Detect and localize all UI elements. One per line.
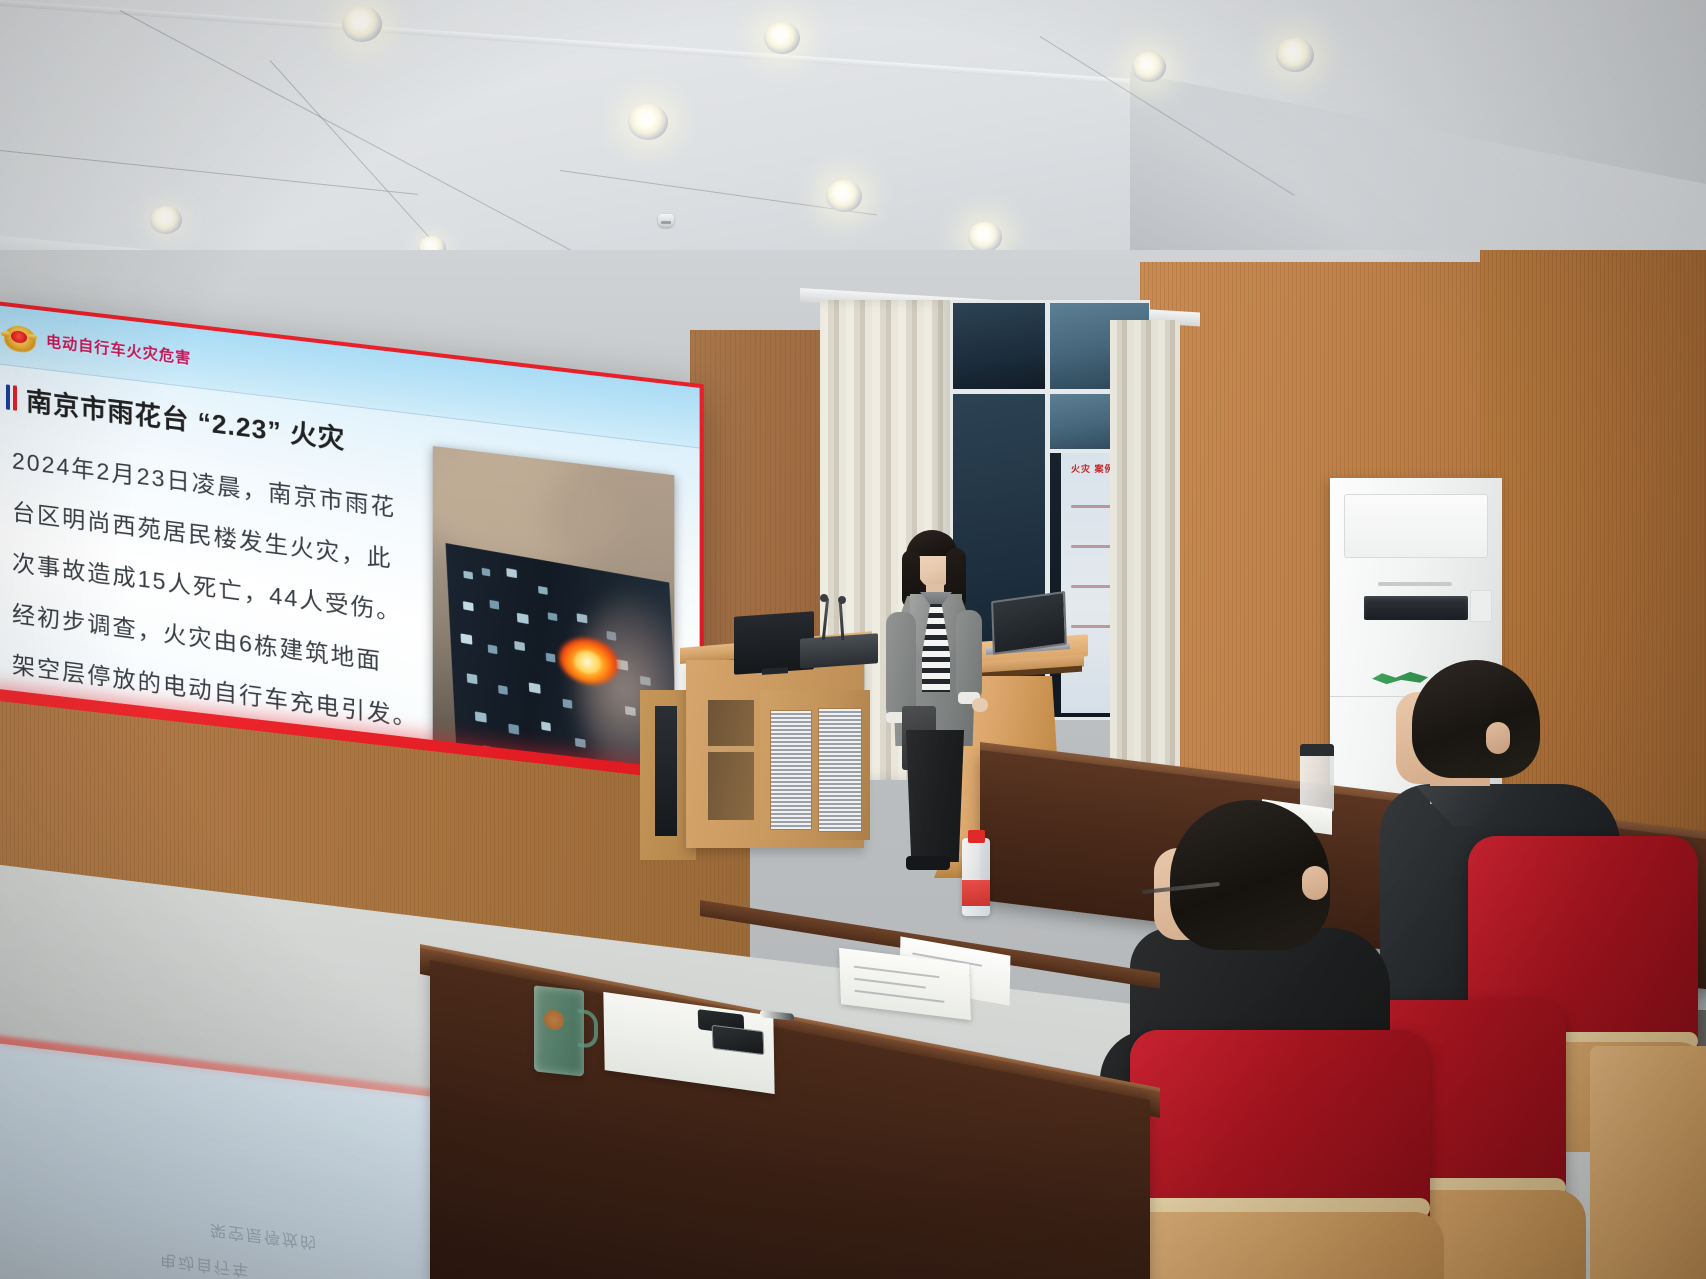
ceiling-downlight: [968, 222, 1002, 252]
green-glass-cup[interactable]: [534, 985, 584, 1076]
ac-control-badge[interactable]: [1470, 590, 1492, 622]
ceiling-downlight: [764, 22, 800, 54]
audio-mixer[interactable]: [800, 633, 878, 668]
auditorium-seat[interactable]: [1130, 1030, 1450, 1279]
slide-header-title: 电动自行车火灾危害: [46, 330, 191, 368]
cabinet-open-shelf: [708, 700, 754, 820]
bottle-label: [962, 880, 990, 906]
jar-lid: [1300, 744, 1334, 756]
cabinet-louver-door[interactable]: [770, 710, 812, 830]
ac-brand-strip: [1378, 582, 1452, 586]
attendee-ear: [1302, 866, 1328, 900]
av-cabinet-right[interactable]: [760, 690, 870, 840]
cabinet-louver-door[interactable]: [818, 708, 862, 832]
ac-air-vent: [1364, 596, 1468, 620]
microphone-head: [838, 596, 846, 604]
bottle-cap: [968, 830, 985, 843]
ceiling-downlight: [826, 180, 862, 212]
microphone-head: [820, 594, 828, 602]
av-cabinet-left-louver: [655, 706, 677, 836]
laptop-screen[interactable]: [991, 591, 1067, 655]
presenter-arm: [886, 612, 916, 720]
cabinet-shelf-board: [708, 746, 754, 752]
ac-top-panel: [1344, 494, 1488, 558]
auditorium-seat[interactable]: [1590, 1046, 1706, 1279]
conference-room-photo: 火灾 案例 电动自行车火灾危害: [0, 0, 1706, 1279]
ceiling-downlight: [1132, 52, 1166, 82]
attendee-hair: [1412, 660, 1540, 778]
presenter-shoe: [906, 856, 950, 870]
ceiling-downlight: [1276, 38, 1314, 72]
presenter-trousers: [902, 730, 968, 862]
ceiling-downlight: [150, 206, 182, 234]
window-curtain-right: [1110, 320, 1180, 790]
fire-service-emblem-icon: [2, 320, 36, 354]
fire-photo: [433, 446, 675, 783]
reflected-screen-title: 火灾 案例: [1071, 462, 1115, 475]
presenter-hand: [972, 698, 988, 712]
window-pane: [953, 303, 1045, 389]
ceiling-downlight: [628, 104, 668, 140]
ceiling-downlight: [342, 6, 382, 42]
presenter-arm: [956, 610, 982, 702]
title-accent-bars-icon: [6, 384, 17, 410]
smoke-detector-icon: [658, 214, 674, 227]
attendee-ear: [1486, 722, 1510, 754]
